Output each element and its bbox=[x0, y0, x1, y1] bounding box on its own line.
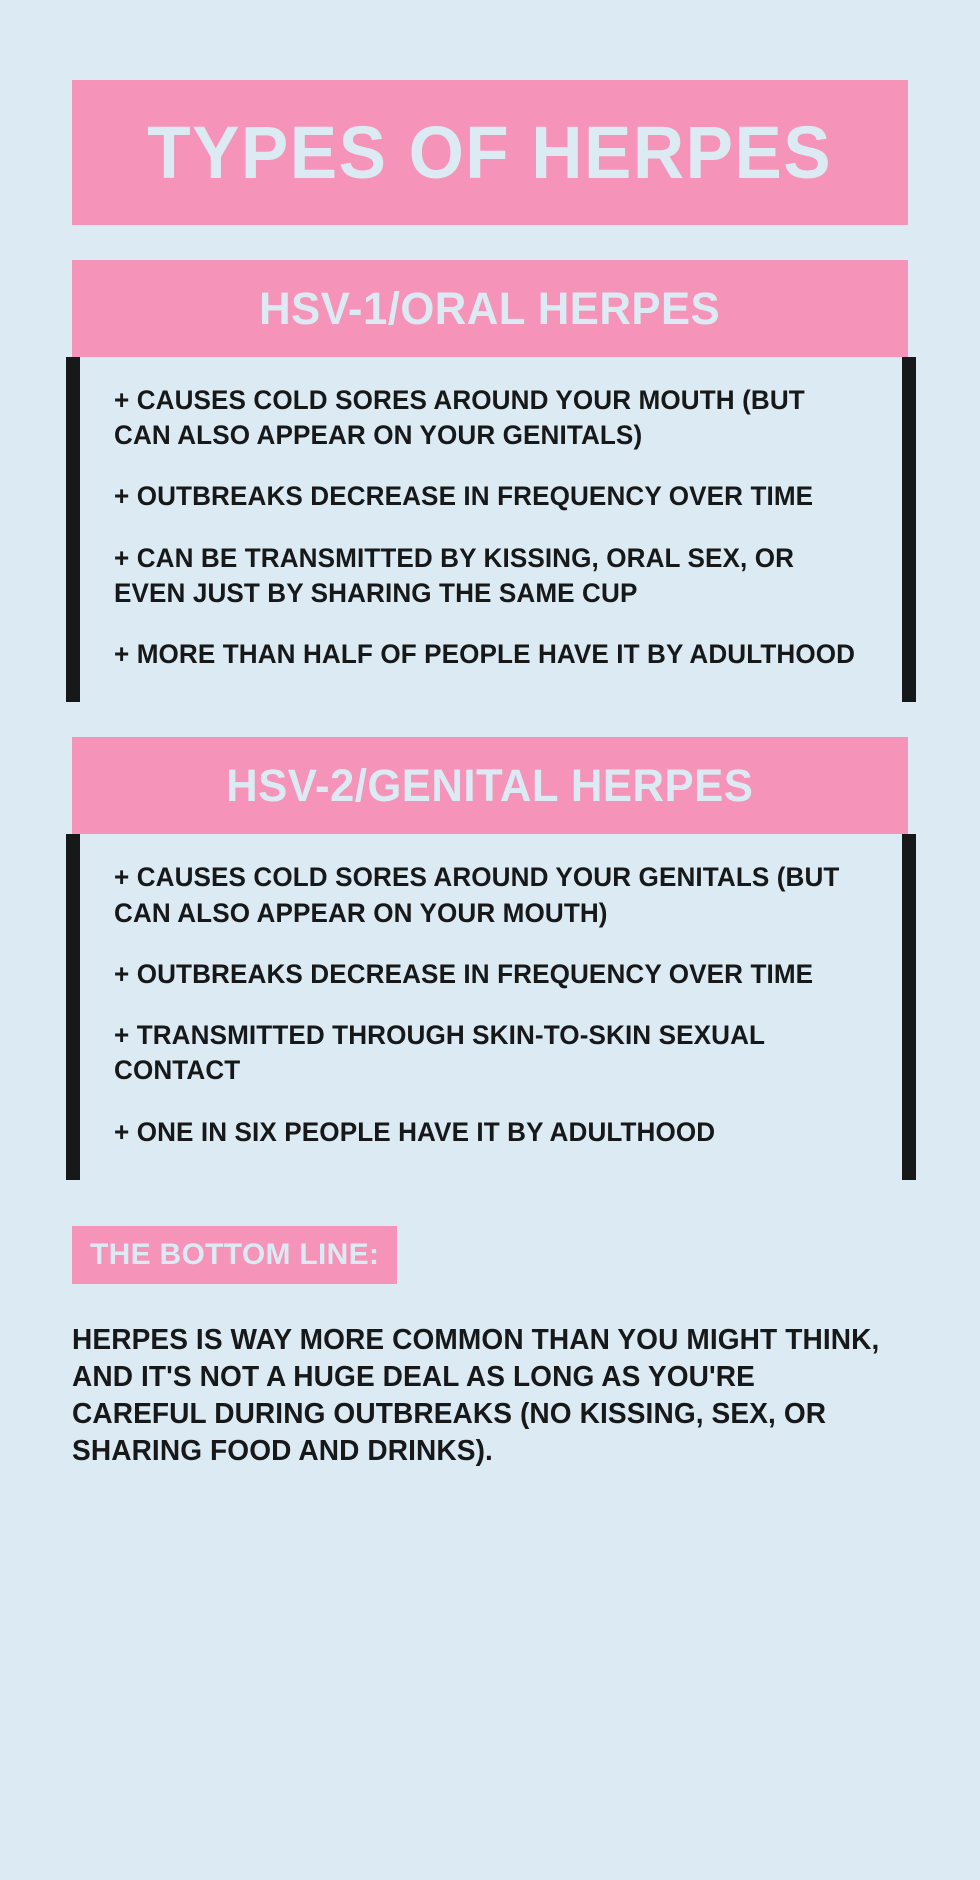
section-hsv2-body: + CAUSES COLD SORES AROUND YOUR GENITALS… bbox=[80, 834, 902, 1179]
bottom-line-tag-label: THE BOTTOM LINE: bbox=[90, 1238, 379, 1271]
section-hsv2-body-frame: + CAUSES COLD SORES AROUND YOUR GENITALS… bbox=[66, 834, 916, 1179]
section-hsv1-body-frame: + CAUSES COLD SORES AROUND YOUR MOUTH (B… bbox=[66, 357, 916, 702]
bottom-line-tag: THE BOTTOM LINE: bbox=[72, 1226, 397, 1284]
section-hsv2: HSV-2/GENITAL HERPES + CAUSES COLD SORES… bbox=[72, 737, 908, 1179]
section-hsv1-header: HSV-1/ORAL HERPES bbox=[72, 260, 908, 357]
bottom-line-section: THE BOTTOM LINE: HERPES IS WAY MORE COMM… bbox=[72, 1226, 908, 1470]
list-item: + CAUSES COLD SORES AROUND YOUR GENITALS… bbox=[114, 860, 857, 930]
list-item: + CAUSES COLD SORES AROUND YOUR MOUTH (B… bbox=[114, 383, 857, 453]
list-item: + OUTBREAKS DECREASE IN FREQUENCY OVER T… bbox=[114, 957, 857, 992]
infographic-page: TYPES OF HERPES HSV-1/ORAL HERPES + CAUS… bbox=[0, 80, 980, 1880]
section-hsv2-title: HSV-2/GENITAL HERPES bbox=[226, 763, 753, 808]
section-hsv1-body: + CAUSES COLD SORES AROUND YOUR MOUTH (B… bbox=[80, 357, 902, 702]
section-hsv1: HSV-1/ORAL HERPES + CAUSES COLD SORES AR… bbox=[72, 260, 908, 702]
list-item: + MORE THAN HALF OF PEOPLE HAVE IT BY AD… bbox=[114, 637, 857, 672]
list-item: + TRANSMITTED THROUGH SKIN-TO-SKIN SEXUA… bbox=[114, 1018, 857, 1088]
list-item: + ONE IN SIX PEOPLE HAVE IT BY ADULTHOOD bbox=[114, 1115, 857, 1150]
section-hsv2-header: HSV-2/GENITAL HERPES bbox=[72, 737, 908, 834]
page-title: TYPES OF HERPES bbox=[148, 116, 833, 190]
bottom-line-paragraph: HERPES IS WAY MORE COMMON THAN YOU MIGHT… bbox=[72, 1322, 895, 1470]
section-hsv1-title: HSV-1/ORAL HERPES bbox=[259, 286, 720, 331]
page-title-banner: TYPES OF HERPES bbox=[72, 80, 908, 225]
list-item: + OUTBREAKS DECREASE IN FREQUENCY OVER T… bbox=[114, 479, 857, 514]
list-item: + CAN BE TRANSMITTED BY KISSING, ORAL SE… bbox=[114, 541, 857, 611]
